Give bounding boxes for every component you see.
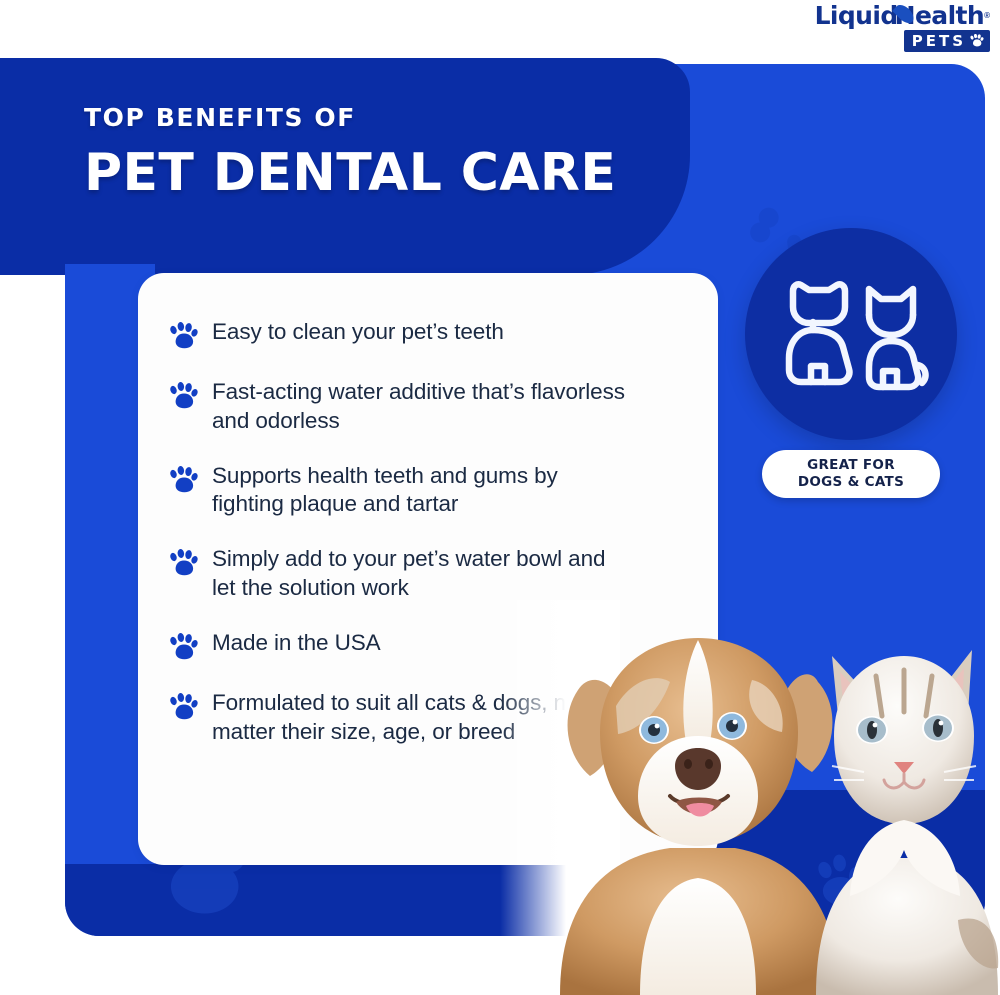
list-item-label: Supports health teeth and gums by fighti… — [212, 462, 630, 520]
list-item: Supports health teeth and gums by fighti… — [170, 462, 630, 520]
logo-word-liquid: Liquid — [815, 3, 898, 28]
logo-sub-pets: PETS — [904, 30, 990, 52]
paw-print-icon — [170, 466, 198, 496]
page-title: PET DENTAL CARE — [40, 143, 616, 203]
pet-photo — [520, 620, 1000, 995]
paw-icon — [970, 34, 984, 48]
list-item-label: Fast-acting water additive that’s flavor… — [212, 378, 630, 436]
list-item: Fast-acting water additive that’s flavor… — [170, 378, 630, 436]
registered-mark: ® — [984, 11, 990, 20]
dog-cat-emblem — [745, 228, 957, 440]
logo-wordmark: Liquid Health ® — [818, 2, 990, 28]
paw-print-icon — [170, 549, 198, 579]
badge-line-2: DOGS & CATS — [798, 474, 904, 491]
list-item-label: Made in the USA — [212, 629, 381, 658]
paw-print-icon — [170, 382, 198, 412]
dog-and-cat-silhouette-icon — [771, 275, 931, 393]
paw-print-icon — [170, 693, 198, 723]
list-item: Easy to clean your pet’s teeth — [170, 318, 630, 352]
badge-line-1: GREAT FOR — [807, 457, 895, 474]
header-eyebrow: TOP BENEFITS OF — [84, 103, 356, 132]
poster-canvas: TOP BENEFITS OF PET DENTAL CARE Easy to … — [0, 0, 1000, 995]
list-item-label: Easy to clean your pet’s teeth — [212, 318, 504, 347]
logo-sub-label: PETS — [912, 32, 966, 50]
status-badge: GREAT FOR DOGS & CATS — [762, 450, 940, 498]
list-item: Simply add to your pet’s water bowl and … — [170, 545, 630, 603]
paw-print-icon — [170, 322, 198, 352]
brand-logo[interactable]: Liquid Health ® PETS — [818, 2, 990, 48]
cat-figure — [816, 650, 998, 995]
list-item-label: Simply add to your pet’s water bowl and … — [212, 545, 630, 603]
paw-print-icon — [170, 633, 198, 663]
dog-figure — [560, 638, 840, 995]
